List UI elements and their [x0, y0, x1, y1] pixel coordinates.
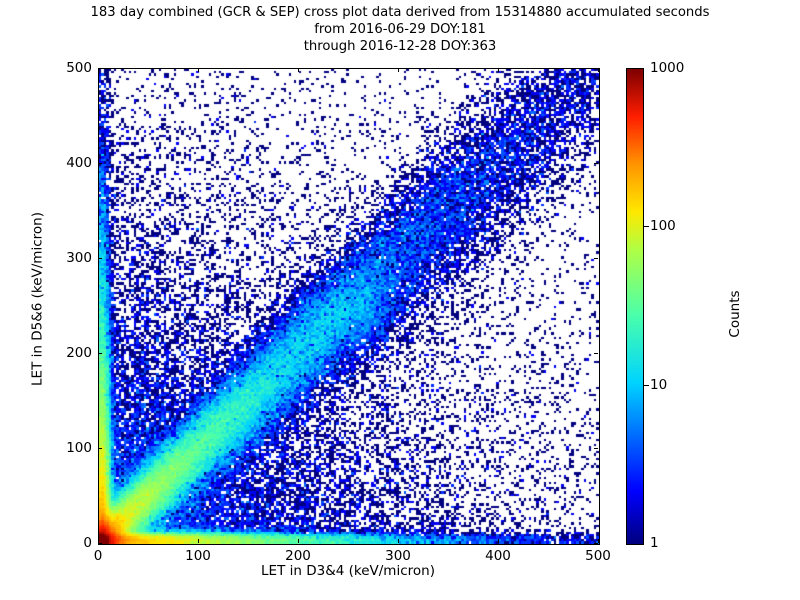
colorbar-tick-label-10: 10: [650, 377, 667, 393]
x-tick-label-100: 100: [185, 548, 211, 564]
y-tick-500: [98, 68, 102, 69]
x-tick-200: [298, 539, 299, 543]
colorbar-tick-100: [644, 226, 649, 227]
y-tick-right-300: [594, 258, 598, 259]
colorbar-tick-label-100: 100: [650, 218, 676, 234]
colorbar-gradient: [627, 69, 643, 544]
heatmap-canvas[interactable]: [99, 69, 599, 544]
x-tick-label-200: 200: [285, 548, 311, 564]
y-tick-400: [98, 163, 102, 164]
colorbar[interactable]: [626, 68, 644, 545]
x-tick-top-300: [398, 68, 399, 72]
y-tick-right-100: [594, 448, 598, 449]
figure-title-line-1: 183 day combined (GCR & SEP) cross plot …: [0, 4, 800, 21]
x-tick-300: [398, 539, 399, 543]
x-tick-label-400: 400: [485, 548, 511, 564]
colorbar-tick-10: [644, 385, 649, 386]
y-tick-right-500: [594, 68, 598, 69]
figure-title-line-2: from 2016-06-29 DOY:181: [0, 21, 800, 38]
x-tick-top-500: [598, 68, 599, 72]
figure-title-line-3: through 2016-12-28 DOY:363: [0, 38, 800, 55]
y-tick-right-200: [594, 353, 598, 354]
x-axis-label: LET in D3&4 (keV/micron): [98, 563, 598, 579]
x-tick-100: [198, 539, 199, 543]
x-tick-top-100: [198, 68, 199, 72]
y-tick-right-400: [594, 163, 598, 164]
x-tick-label-300: 300: [385, 548, 411, 564]
y-tick-300: [98, 258, 102, 259]
colorbar-label: Counts: [727, 164, 743, 464]
colorbar-tick-label-1000: 1000: [650, 60, 684, 76]
y-tick-0: [98, 543, 102, 544]
y-tick-100: [98, 448, 102, 449]
x-tick-top-400: [498, 68, 499, 72]
plot-area[interactable]: [98, 68, 600, 545]
colorbar-tick-label-1: 1: [650, 535, 659, 551]
figure-title: 183 day combined (GCR & SEP) cross plot …: [0, 4, 800, 55]
x-tick-400: [498, 539, 499, 543]
x-tick-label-500: 500: [585, 548, 611, 564]
x-tick-500: [598, 539, 599, 543]
y-tick-right-0: [594, 543, 598, 544]
y-tick-label-0: 0: [22, 535, 92, 551]
y-tick-200: [98, 353, 102, 354]
x-tick-top-200: [298, 68, 299, 72]
y-axis-label: LET in D5&6 (keV/micron): [30, 62, 46, 537]
x-tick-label-0: 0: [94, 548, 103, 564]
figure-root: 183 day combined (GCR & SEP) cross plot …: [0, 0, 800, 600]
